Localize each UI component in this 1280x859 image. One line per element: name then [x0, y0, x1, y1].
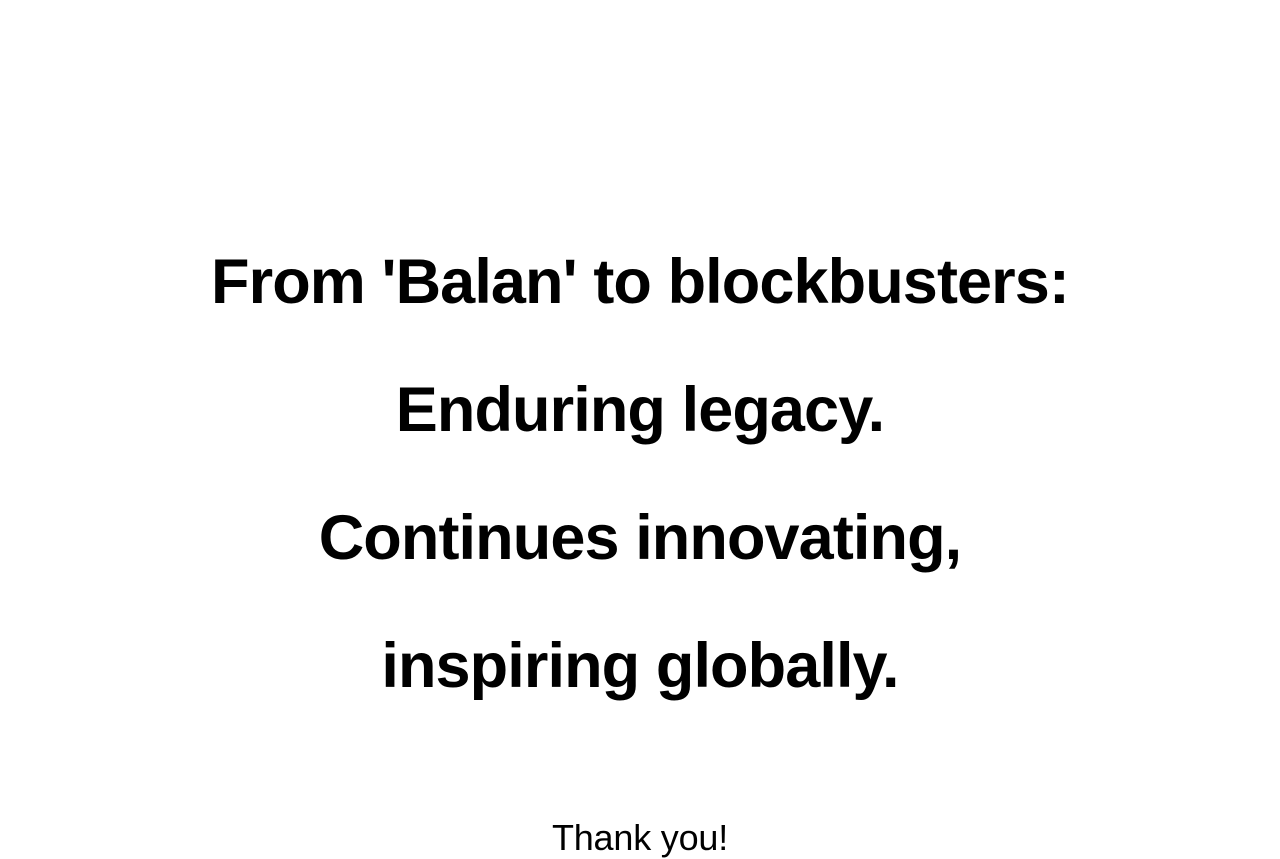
slide-content: From 'Balan' to blockbusters: Enduring l… [0, 186, 1280, 859]
headline-line-2: Enduring legacy. [140, 378, 1140, 442]
page-title: From 'Balan' to blockbusters: Enduring l… [140, 186, 1140, 762]
headline-line-4: inspiring globally. [140, 634, 1140, 698]
headline-line-3: Continues innovating, [140, 506, 1140, 570]
subtitle-container: Thank you! [140, 817, 1140, 859]
closing-subtitle: Thank you! [552, 817, 728, 859]
slide-canvas: From 'Balan' to blockbusters: Enduring l… [0, 0, 1280, 720]
headline-line-1: From 'Balan' to blockbusters: [140, 250, 1140, 314]
